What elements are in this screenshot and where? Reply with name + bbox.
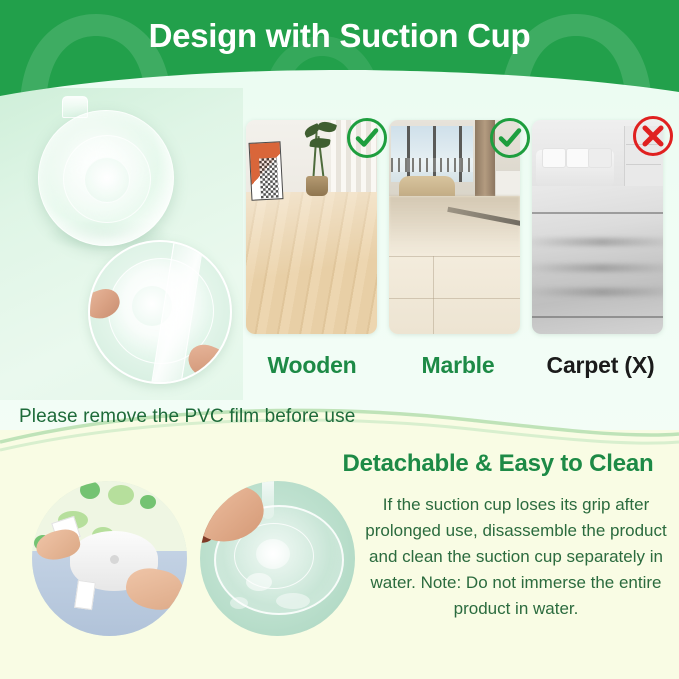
cross-icon bbox=[633, 116, 673, 156]
suction-cup-photo bbox=[0, 88, 243, 400]
bag-dot-1 bbox=[46, 487, 62, 501]
pvc-film-note: Please remove the PVC film before use bbox=[19, 406, 355, 428]
marble-reflection bbox=[389, 196, 520, 256]
page-title: Design with Suction Cup bbox=[0, 17, 679, 55]
surface-label-marble: Marble bbox=[378, 352, 538, 379]
window-mullion-3 bbox=[459, 126, 462, 182]
tile-seam-3 bbox=[433, 256, 434, 334]
water-splash-1 bbox=[246, 573, 272, 591]
rug-edge-bottom bbox=[532, 316, 663, 318]
header-band: Design with Suction Cup bbox=[0, 0, 679, 100]
sofa-cushion-3 bbox=[588, 148, 612, 168]
pvc-film-closeup-photo bbox=[88, 240, 232, 384]
window-mullion-2 bbox=[433, 126, 436, 182]
wooden-floor-sheen bbox=[246, 192, 377, 334]
water-splash-3 bbox=[230, 597, 248, 609]
bag-dot-4 bbox=[140, 495, 156, 509]
grey-rug bbox=[532, 186, 663, 334]
product-vent-hole bbox=[110, 555, 119, 564]
white-tab-bottom bbox=[74, 580, 96, 610]
rug-streak-1 bbox=[532, 238, 663, 246]
water-splash-2 bbox=[276, 593, 310, 609]
tile-seam-1 bbox=[389, 256, 520, 257]
cup-center-dome bbox=[84, 157, 130, 203]
check-icon bbox=[490, 118, 530, 158]
balcony-railing bbox=[391, 158, 473, 172]
clean-section-body: If the suction cup loses its grip after … bbox=[358, 492, 674, 622]
frame-checker-pattern bbox=[259, 158, 279, 199]
check-icon bbox=[347, 118, 387, 158]
water-stream bbox=[262, 481, 274, 519]
shelf-line-2 bbox=[626, 164, 661, 165]
rug-edge-top bbox=[532, 212, 663, 214]
tile-seam-2 bbox=[389, 298, 520, 299]
product-infographic: Wooden Marble Carpet (X) Please remove t… bbox=[0, 0, 679, 679]
plant-pot bbox=[306, 176, 328, 196]
surface-label-wooden: Wooden bbox=[232, 352, 392, 379]
wash-cup-core bbox=[256, 539, 290, 569]
cup-body bbox=[38, 110, 174, 246]
surface-label-carpet: Carpet (X) bbox=[522, 352, 679, 379]
window-mullion-1 bbox=[407, 126, 410, 182]
wash-suction-cup-photo bbox=[200, 481, 355, 636]
detach-product-photo bbox=[32, 481, 187, 636]
bag-dot-2 bbox=[80, 481, 100, 499]
sofa-cushion-2 bbox=[566, 148, 590, 168]
sofa-cushion-1 bbox=[542, 148, 566, 168]
rug-streak-3 bbox=[532, 288, 663, 296]
rug-streak-2 bbox=[532, 264, 663, 272]
bag-dot-3 bbox=[108, 485, 134, 505]
clean-section-heading: Detachable & Easy to Clean bbox=[322, 450, 674, 478]
